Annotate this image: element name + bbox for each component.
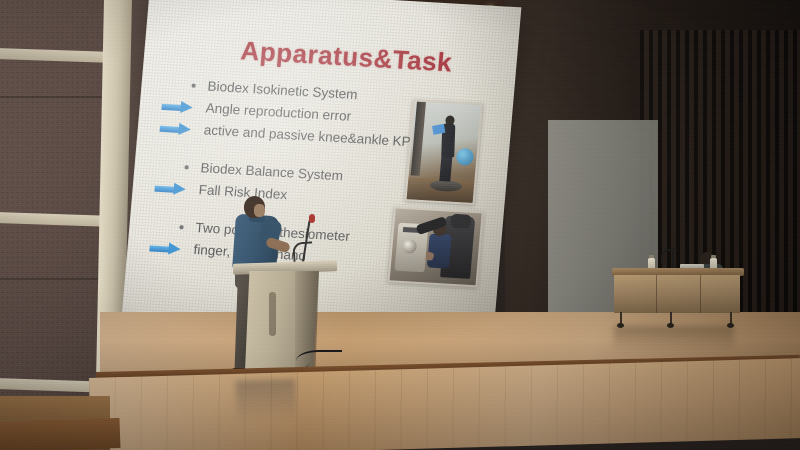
blue-arrow-icon [159, 122, 194, 137]
microphone-head-icon [309, 214, 315, 223]
blue-arrow-icon [161, 100, 196, 115]
panel-seam [0, 96, 104, 98]
panel-seam [0, 278, 104, 280]
bottle-cap [711, 255, 716, 258]
presenter-face [254, 204, 265, 217]
bullet-dot-icon [179, 225, 183, 229]
table-front-panel [614, 275, 740, 313]
stage-front-edge [0, 418, 120, 450]
balance-system-photo [404, 99, 483, 205]
bullet-dot-icon [184, 165, 188, 169]
table-floor-reflection [614, 326, 734, 352]
isokinetic-chair-photo [387, 206, 483, 287]
presentation-photo-scene: Apparatus&Task Biodex Isokinetic System … [0, 0, 800, 450]
lectern-groove [269, 292, 276, 336]
slide-title: Apparatus&Task [239, 35, 453, 78]
table-seam [700, 275, 701, 313]
moderator-table [612, 268, 744, 326]
bullet-dot-icon [192, 84, 196, 88]
table-seam [656, 275, 657, 313]
blue-arrow-icon [154, 182, 189, 197]
bottle-cap [649, 255, 654, 258]
presenter-floor-reflection [235, 379, 296, 423]
blue-arrow-icon [149, 241, 184, 256]
table-microphone-boom [661, 249, 677, 263]
